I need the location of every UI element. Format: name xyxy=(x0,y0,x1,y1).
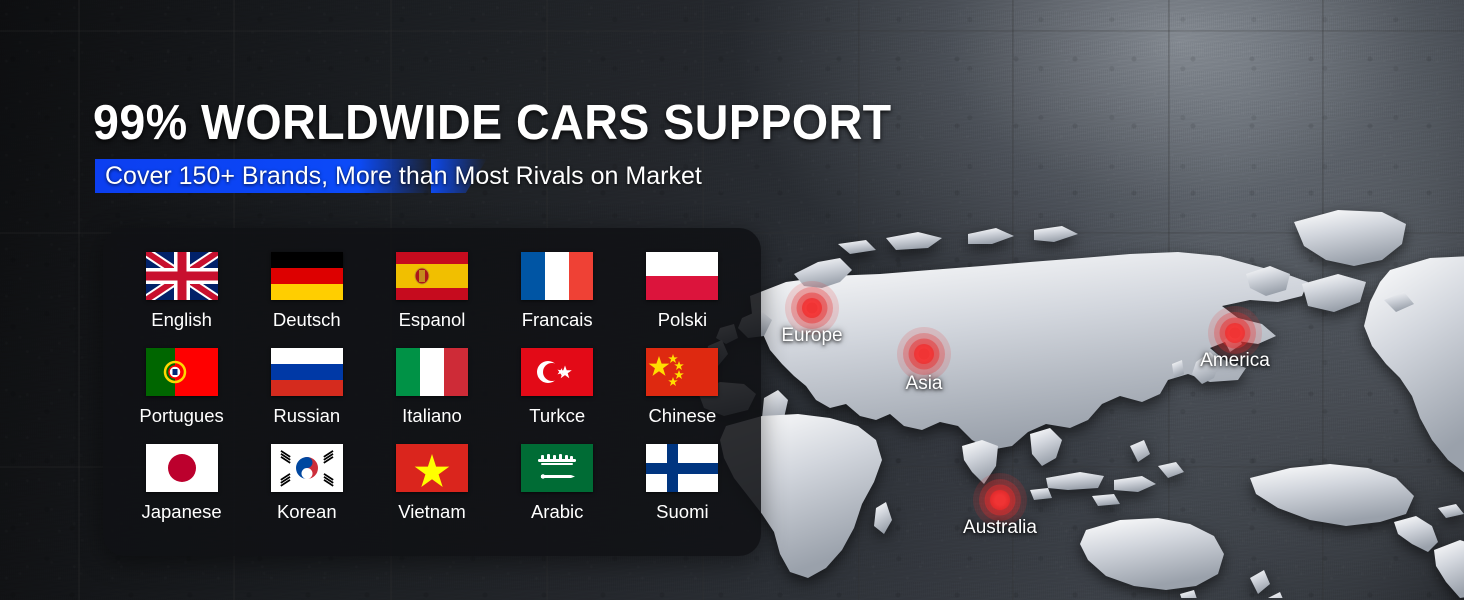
subtitle-row: Cover 150+ Brands, More than Most Rivals… xyxy=(95,159,712,193)
language-label: Arabic xyxy=(531,501,583,522)
worldwide-cars-support-banner: EuropeAsiaAmericaAustralia 99% WORLDWIDE… xyxy=(0,0,1464,600)
language-item-english[interactable]: English xyxy=(119,252,244,348)
flag-saudi-arabia-icon xyxy=(521,444,593,492)
language-item-espanol[interactable]: Espanol xyxy=(369,252,494,348)
language-item-chinese[interactable]: Chinese xyxy=(620,348,745,444)
flag-south-korea-icon xyxy=(271,444,343,492)
language-label: Vietnam xyxy=(398,501,466,522)
flag-united-kingdom-icon xyxy=(146,252,218,300)
language-item-italiano[interactable]: Italiano xyxy=(369,348,494,444)
flag-italy-icon xyxy=(396,348,468,396)
map-marker-label-europe: Europe xyxy=(781,325,842,347)
flag-vietnam-icon xyxy=(396,444,468,492)
flag-spain-icon xyxy=(396,252,468,300)
language-label: Suomi xyxy=(656,501,708,522)
language-grid: EnglishDeutschEspanolFrancaisPolskiPortu… xyxy=(103,228,761,556)
language-label: Chinese xyxy=(648,405,716,426)
flag-turkey-icon xyxy=(521,348,593,396)
language-item-russian[interactable]: Russian xyxy=(244,348,369,444)
language-label: Francais xyxy=(522,309,593,330)
language-label: Deutsch xyxy=(273,309,341,330)
flag-finland-icon xyxy=(646,444,718,492)
flag-poland-icon xyxy=(646,252,718,300)
flag-japan-icon xyxy=(146,444,218,492)
flag-germany-icon xyxy=(271,252,343,300)
language-item-suomi[interactable]: Suomi xyxy=(620,444,745,540)
language-label: Japanese xyxy=(141,501,221,522)
language-item-arabic[interactable]: Arabic xyxy=(495,444,620,540)
map-marker-label-asia: Asia xyxy=(906,373,943,395)
language-label: Korean xyxy=(277,501,337,522)
map-marker-label-australia: Australia xyxy=(963,517,1037,539)
map-marker-label-america: America xyxy=(1200,350,1270,372)
language-label: Polski xyxy=(658,309,707,330)
flag-portugal-icon xyxy=(146,348,218,396)
language-label: Espanol xyxy=(399,309,466,330)
language-item-vietnam[interactable]: Vietnam xyxy=(369,444,494,540)
language-item-deutsch[interactable]: Deutsch xyxy=(244,252,369,348)
language-item-korean[interactable]: Korean xyxy=(244,444,369,540)
language-item-turkce[interactable]: Turkce xyxy=(495,348,620,444)
page-title: 99% WORLDWIDE CARS SUPPORT xyxy=(93,96,892,150)
language-support-panel: EnglishDeutschEspanolFrancaisPolskiPortu… xyxy=(103,228,761,556)
language-label: Turkce xyxy=(529,405,585,426)
language-label: Russian xyxy=(273,405,340,426)
language-item-japanese[interactable]: Japanese xyxy=(119,444,244,540)
flag-france-icon xyxy=(521,252,593,300)
world-map xyxy=(690,178,1464,598)
language-label: Italiano xyxy=(402,405,462,426)
flag-china-icon xyxy=(646,348,718,396)
language-item-francais[interactable]: Francais xyxy=(495,252,620,348)
language-label: Portugues xyxy=(139,405,223,426)
language-item-portugues[interactable]: Portugues xyxy=(119,348,244,444)
language-item-polski[interactable]: Polski xyxy=(620,252,745,348)
flag-russia-icon xyxy=(271,348,343,396)
subtitle-text: Cover 150+ Brands, More than Most Rivals… xyxy=(95,159,712,193)
language-label: English xyxy=(151,309,212,330)
